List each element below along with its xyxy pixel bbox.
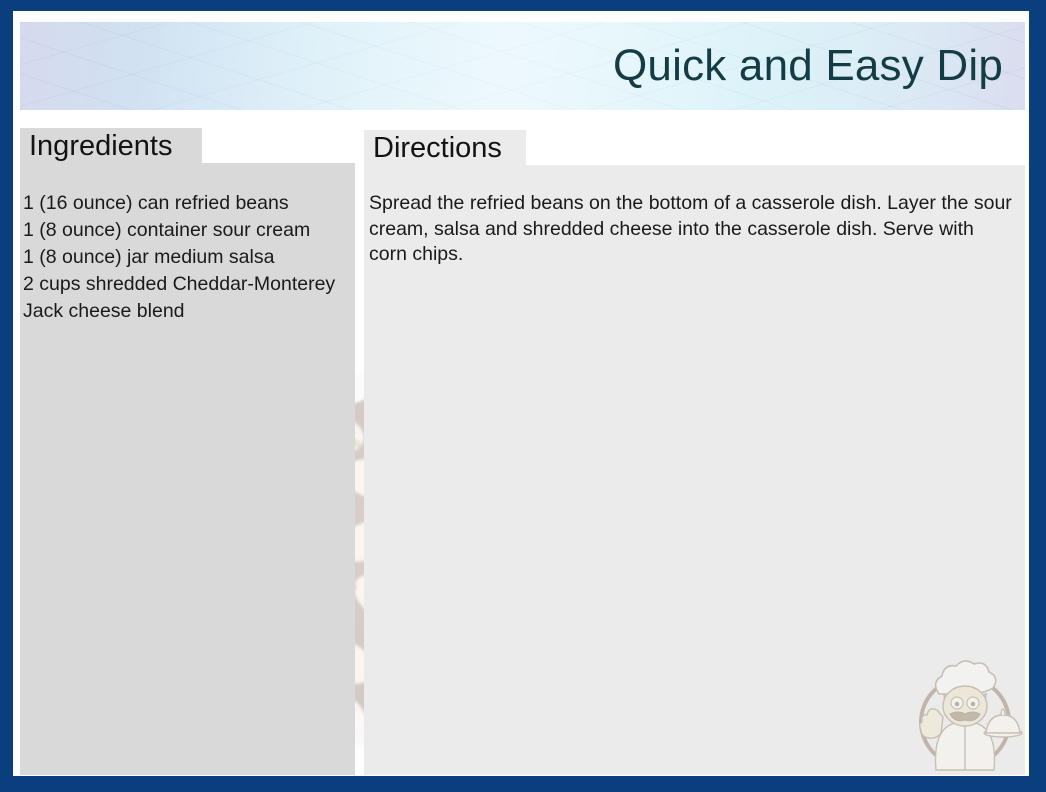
list-item: 1 (16 ounce) can refried beans bbox=[23, 190, 345, 217]
page-title: Quick and Easy Dip bbox=[613, 44, 1025, 88]
ingredients-tab: Ingredients bbox=[20, 128, 202, 165]
frame-top-border bbox=[0, 0, 1046, 11]
frame-left-border bbox=[0, 0, 13, 792]
ingredients-list: 1 (16 ounce) can refried beans 1 (8 ounc… bbox=[23, 190, 345, 325]
list-item: 2 cups shredded Cheddar-Monterey Jack ch… bbox=[23, 271, 345, 325]
directions-tab: Directions bbox=[364, 130, 526, 167]
ingredients-heading: Ingredients bbox=[20, 132, 173, 161]
list-item: 1 (8 ounce) container sour cream bbox=[23, 217, 345, 244]
recipe-slide: Quick and Easy Dip Ingredients 1 (16 oun… bbox=[0, 0, 1046, 792]
frame-right-border bbox=[1029, 0, 1046, 792]
directions-heading: Directions bbox=[364, 134, 502, 163]
list-item: 1 (8 ounce) jar medium salsa bbox=[23, 244, 345, 271]
directions-text: Spread the refried beans on the bottom o… bbox=[369, 191, 1014, 268]
frame-bottom-border bbox=[0, 776, 1046, 792]
title-banner: Quick and Easy Dip bbox=[20, 22, 1025, 110]
